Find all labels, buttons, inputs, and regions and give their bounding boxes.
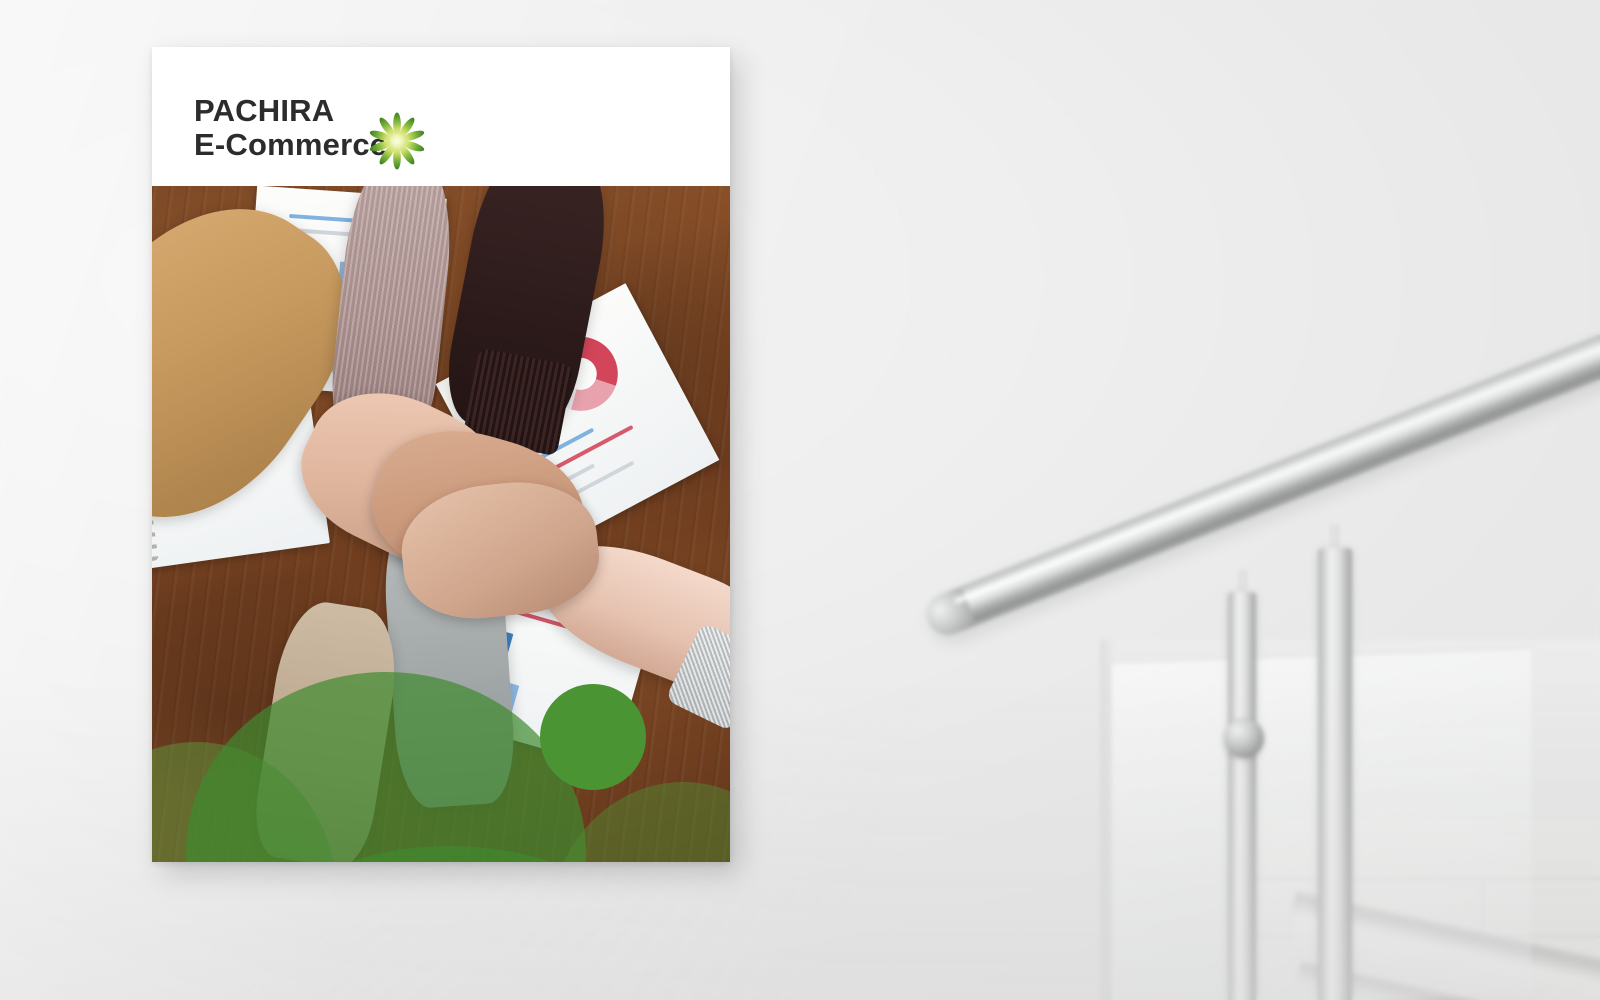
brand-name-line2: E-Commerce [194, 128, 387, 162]
green-flower-burst-icon [366, 110, 428, 172]
cover-headline: Focus Professional Connectrate On [196, 786, 528, 862]
poster-header-band: PACHIRA E-Commerce [152, 47, 730, 186]
brand-logo: PACHIRA E-Commerce [194, 94, 387, 162]
brand-name-line1: PACHIRA [194, 94, 387, 128]
cover-photograph: Focus Professional Connectrate On [152, 186, 730, 862]
green-solid-dot [540, 684, 646, 790]
scene-root: PACHIRA E-Commerce [0, 0, 1600, 1000]
brochure-cover[interactable]: PACHIRA E-Commerce [152, 47, 730, 862]
